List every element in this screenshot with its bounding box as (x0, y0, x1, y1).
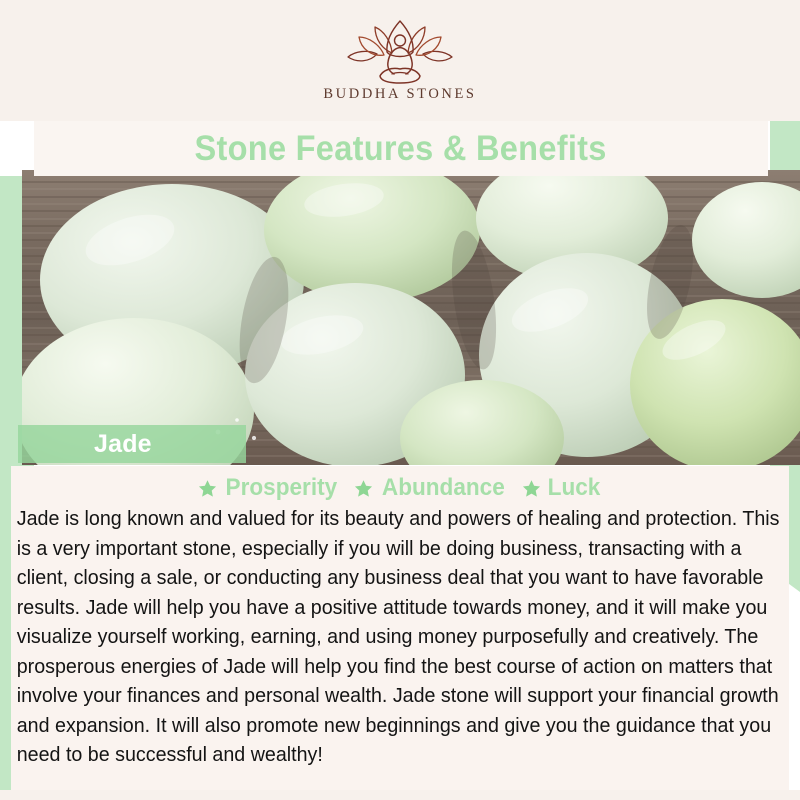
stone-description: Jade is long known and valued for its be… (11, 502, 786, 770)
benefit-label: Abundance (382, 474, 505, 502)
poster-header: BUDDHA STONES (0, 0, 800, 121)
bottom-strip (0, 790, 800, 800)
stone-photo (22, 170, 800, 465)
benefit-label: Luck (547, 474, 600, 502)
page-title: Stone Features & Benefits (195, 129, 607, 169)
benefit-label: Prosperity (226, 474, 338, 502)
star-icon (198, 479, 217, 498)
benefit-item: Abundance (354, 474, 509, 502)
benefits-row: Prosperity Abundance Luck (11, 466, 789, 502)
stone-info-poster: BUDDHA STONES Stone Features & Benefits (0, 0, 800, 800)
star-icon (522, 479, 541, 498)
brand-name: BUDDHA STONES (323, 86, 476, 103)
star-icon (354, 479, 373, 498)
stone-name-tag: Jade (18, 425, 246, 463)
stone-name-label: Jade (18, 430, 152, 459)
content-panel: Prosperity Abundance Luck Jade is long k… (11, 466, 789, 800)
title-band: Stone Features & Benefits (34, 121, 768, 176)
benefit-item: Luck (522, 474, 602, 502)
lotus-meditation-icon (344, 18, 456, 84)
benefit-item: Prosperity (198, 474, 341, 502)
brand-logo: BUDDHA STONES (323, 18, 476, 103)
